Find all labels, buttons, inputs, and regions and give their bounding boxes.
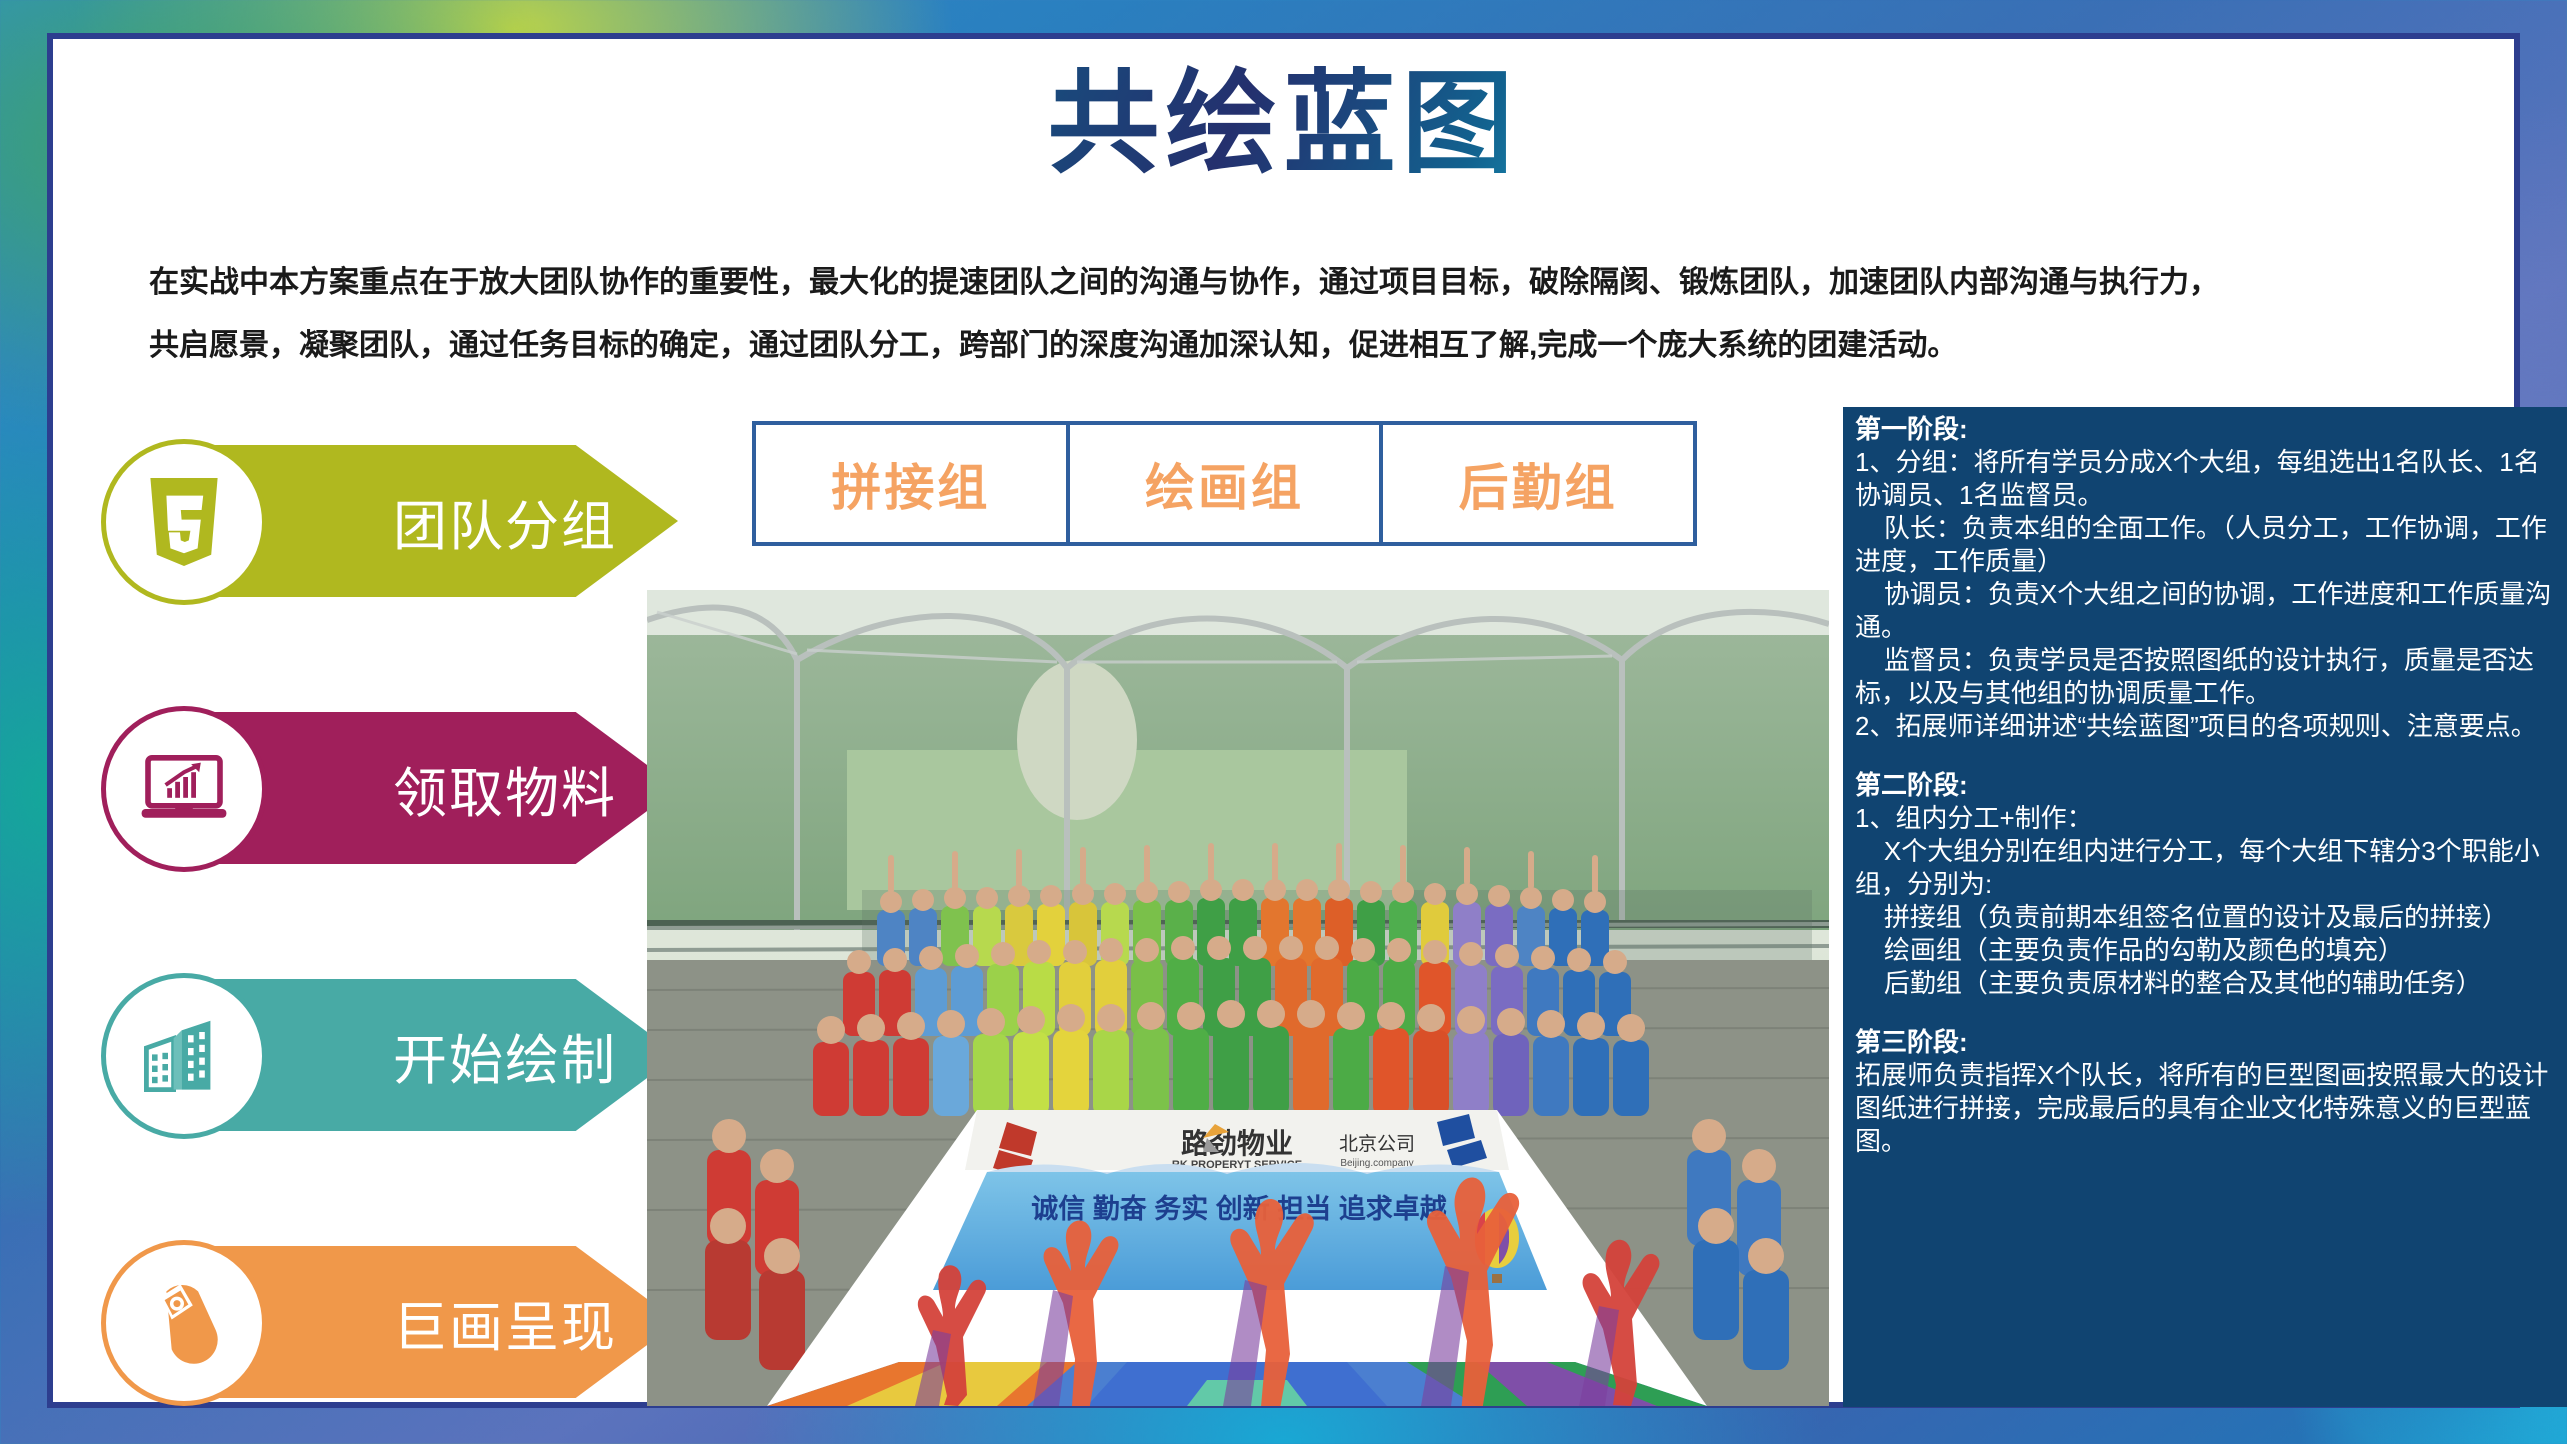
step-icon-circle (101, 439, 267, 605)
process-steps: 团队分组 领取物料 (101, 439, 701, 1444)
step-label: 开始绘制 (393, 1016, 617, 1095)
step-icon-circle (101, 706, 267, 872)
mural-slogan: 诚信 勤奋 务实 创新 担当 追求卓越 (1031, 1193, 1448, 1224)
team-photo-illustration: 路劲物业 RK PROPERYT SERVICE 北京公司 Beijing.co… (647, 590, 1829, 1406)
intro-paragraph: 在实战中本方案重点在于放大团队协作的重要性，最大化的提速团队之间的沟通与协作，通… (149, 251, 2439, 377)
group-box-splicing[interactable]: 拼接组 (756, 425, 1070, 542)
page-title: 共绘蓝图 (53, 61, 2514, 190)
group-box-painting[interactable]: 绘画组 (1070, 425, 1384, 542)
step-label: 团队分组 (393, 482, 617, 561)
step-banner: 巨画呈现 (213, 1246, 678, 1398)
step-item-collect-materials[interactable]: 领取物料 (101, 706, 701, 876)
html5-shield-icon (140, 478, 228, 566)
group-box-logistics[interactable]: 后勤组 (1383, 425, 1693, 542)
panel-spacer (1855, 743, 2563, 769)
buildings-icon (140, 1012, 228, 1100)
mouse-hand-icon (140, 1279, 228, 1367)
step-banner: 领取物料 (213, 712, 678, 864)
panel-phase-body: 拓展师负责指挥X个队长，将所有的巨型图画按照最大的设计图纸进行拼接，完成最后的具… (1855, 1059, 2563, 1158)
intro-line-2: 共启愿景，凝聚团队，通过任务目标的确定，通过团队分工，跨部门的深度沟通加深认知，… (149, 314, 2439, 377)
mural-branch-cn: 北京公司 (1339, 1133, 1415, 1155)
panel-phase-heading: 第三阶段: (1855, 1026, 2563, 1059)
panel-spacer (1855, 1000, 2563, 1026)
step-banner: 开始绘制 (213, 979, 678, 1131)
step-item-team-grouping[interactable]: 团队分组 (101, 439, 701, 609)
step-item-mural-presentation[interactable]: 巨画呈现 (101, 1240, 701, 1410)
mural-banner-cn: 路劲物业 (1181, 1128, 1293, 1159)
step-item-start-drawing[interactable]: 开始绘制 (101, 973, 701, 1143)
step-label: 巨画呈现 (393, 1283, 617, 1362)
step-banner: 团队分组 (213, 445, 678, 597)
panel-phase-body: 1、组内分工+制作： X个大组分别在组内进行分工，每个大组下辖分3个职能小组，分… (1855, 802, 2563, 1000)
group-boxes: 拼接组 绘画组 后勤组 (752, 421, 1697, 546)
panel-phase-body: 1、分组：将所有学员分成X个大组，每组选出1名队长、1名协调员、1名监督员。 队… (1855, 446, 2563, 743)
step-icon-circle (101, 973, 267, 1139)
phase-details-panel: 第一阶段:1、分组：将所有学员分成X个大组，每组选出1名队长、1名协调员、1名监… (1843, 407, 2567, 1407)
laptop-chart-icon (140, 745, 228, 833)
step-label: 领取物料 (393, 749, 617, 828)
step-icon-circle (101, 1240, 267, 1406)
intro-line-1: 在实战中本方案重点在于放大团队协作的重要性，最大化的提速团队之间的沟通与协作，通… (149, 251, 2439, 314)
panel-phase-heading: 第一阶段: (1855, 413, 2563, 446)
slide-canvas: 共绘蓝图 在实战中本方案重点在于放大团队协作的重要性，最大化的提速团队之间的沟通… (47, 33, 2520, 1408)
panel-phase-heading: 第二阶段: (1855, 769, 2563, 802)
team-photo: 路劲物业 RK PROPERYT SERVICE 北京公司 Beijing.co… (647, 590, 1829, 1406)
